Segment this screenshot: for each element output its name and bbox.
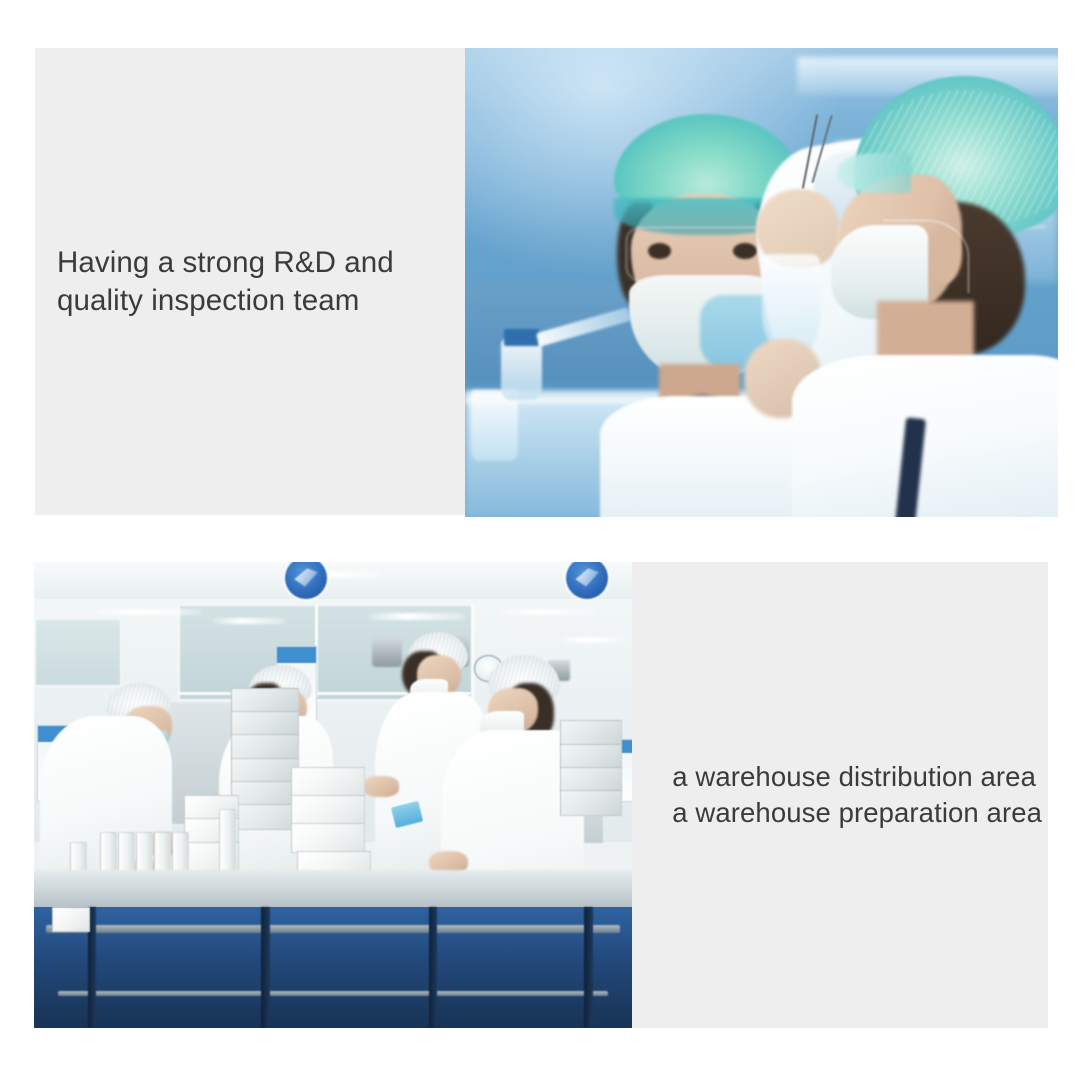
worker-mask-strap <box>883 220 969 293</box>
box-stack-item <box>231 758 299 783</box>
lab-bottle-cap <box>504 329 540 345</box>
carton-tube-tall <box>219 809 235 872</box>
table-rail-1 <box>46 925 620 932</box>
box-stack-item <box>231 688 299 713</box>
ceiling-light-5 <box>560 637 626 644</box>
warehouse-window-left <box>34 618 122 687</box>
worker-lab-coat <box>792 355 1058 517</box>
warehouse-packing-photo <box>34 562 632 1028</box>
ceiling-light-3 <box>369 613 465 620</box>
lab-worker-profile <box>803 76 1058 517</box>
lab-inspection-photo <box>465 48 1058 517</box>
ceiling-light-1 <box>94 609 202 616</box>
worker-hairnet-brim <box>837 153 911 194</box>
warehouse-caption-panel: a warehouse distribution area a warehous… <box>632 562 1048 1028</box>
steel-pot-1 <box>372 637 402 667</box>
box-stack-item <box>291 795 365 825</box>
poster-header <box>277 647 316 663</box>
ceiling-light-2 <box>213 618 285 625</box>
lab-beaker <box>471 390 518 460</box>
rnd-caption-text: Having a strong R&D and quality inspecti… <box>57 244 394 319</box>
box-stack-item <box>231 711 299 736</box>
box-stack-item <box>560 767 622 792</box>
ceiling-light-4 <box>500 609 596 616</box>
rnd-caption-panel: Having a strong R&D and quality inspecti… <box>35 48 465 515</box>
box-stack-item <box>560 720 622 745</box>
table-rail-2 <box>58 991 608 997</box>
warehouse-caption-text: a warehouse distribution area a warehous… <box>672 759 1042 832</box>
box-stack-item <box>231 734 299 759</box>
box-stack-item <box>291 823 365 853</box>
table-leg-3 <box>429 907 437 1028</box>
box-stack-item <box>560 790 622 815</box>
under-table-paper <box>52 907 90 932</box>
table-leg-2 <box>261 907 269 1028</box>
warehouse-ceiling <box>34 562 632 604</box>
box-stack-item <box>231 781 299 806</box>
worker-hand <box>363 776 399 797</box>
page-canvas: Having a strong R&D and quality inspecti… <box>0 0 1080 1080</box>
table-leg-4 <box>584 907 592 1028</box>
box-stack-item <box>291 767 365 797</box>
box-stack-item <box>560 744 622 769</box>
lab-bottle <box>501 339 543 400</box>
